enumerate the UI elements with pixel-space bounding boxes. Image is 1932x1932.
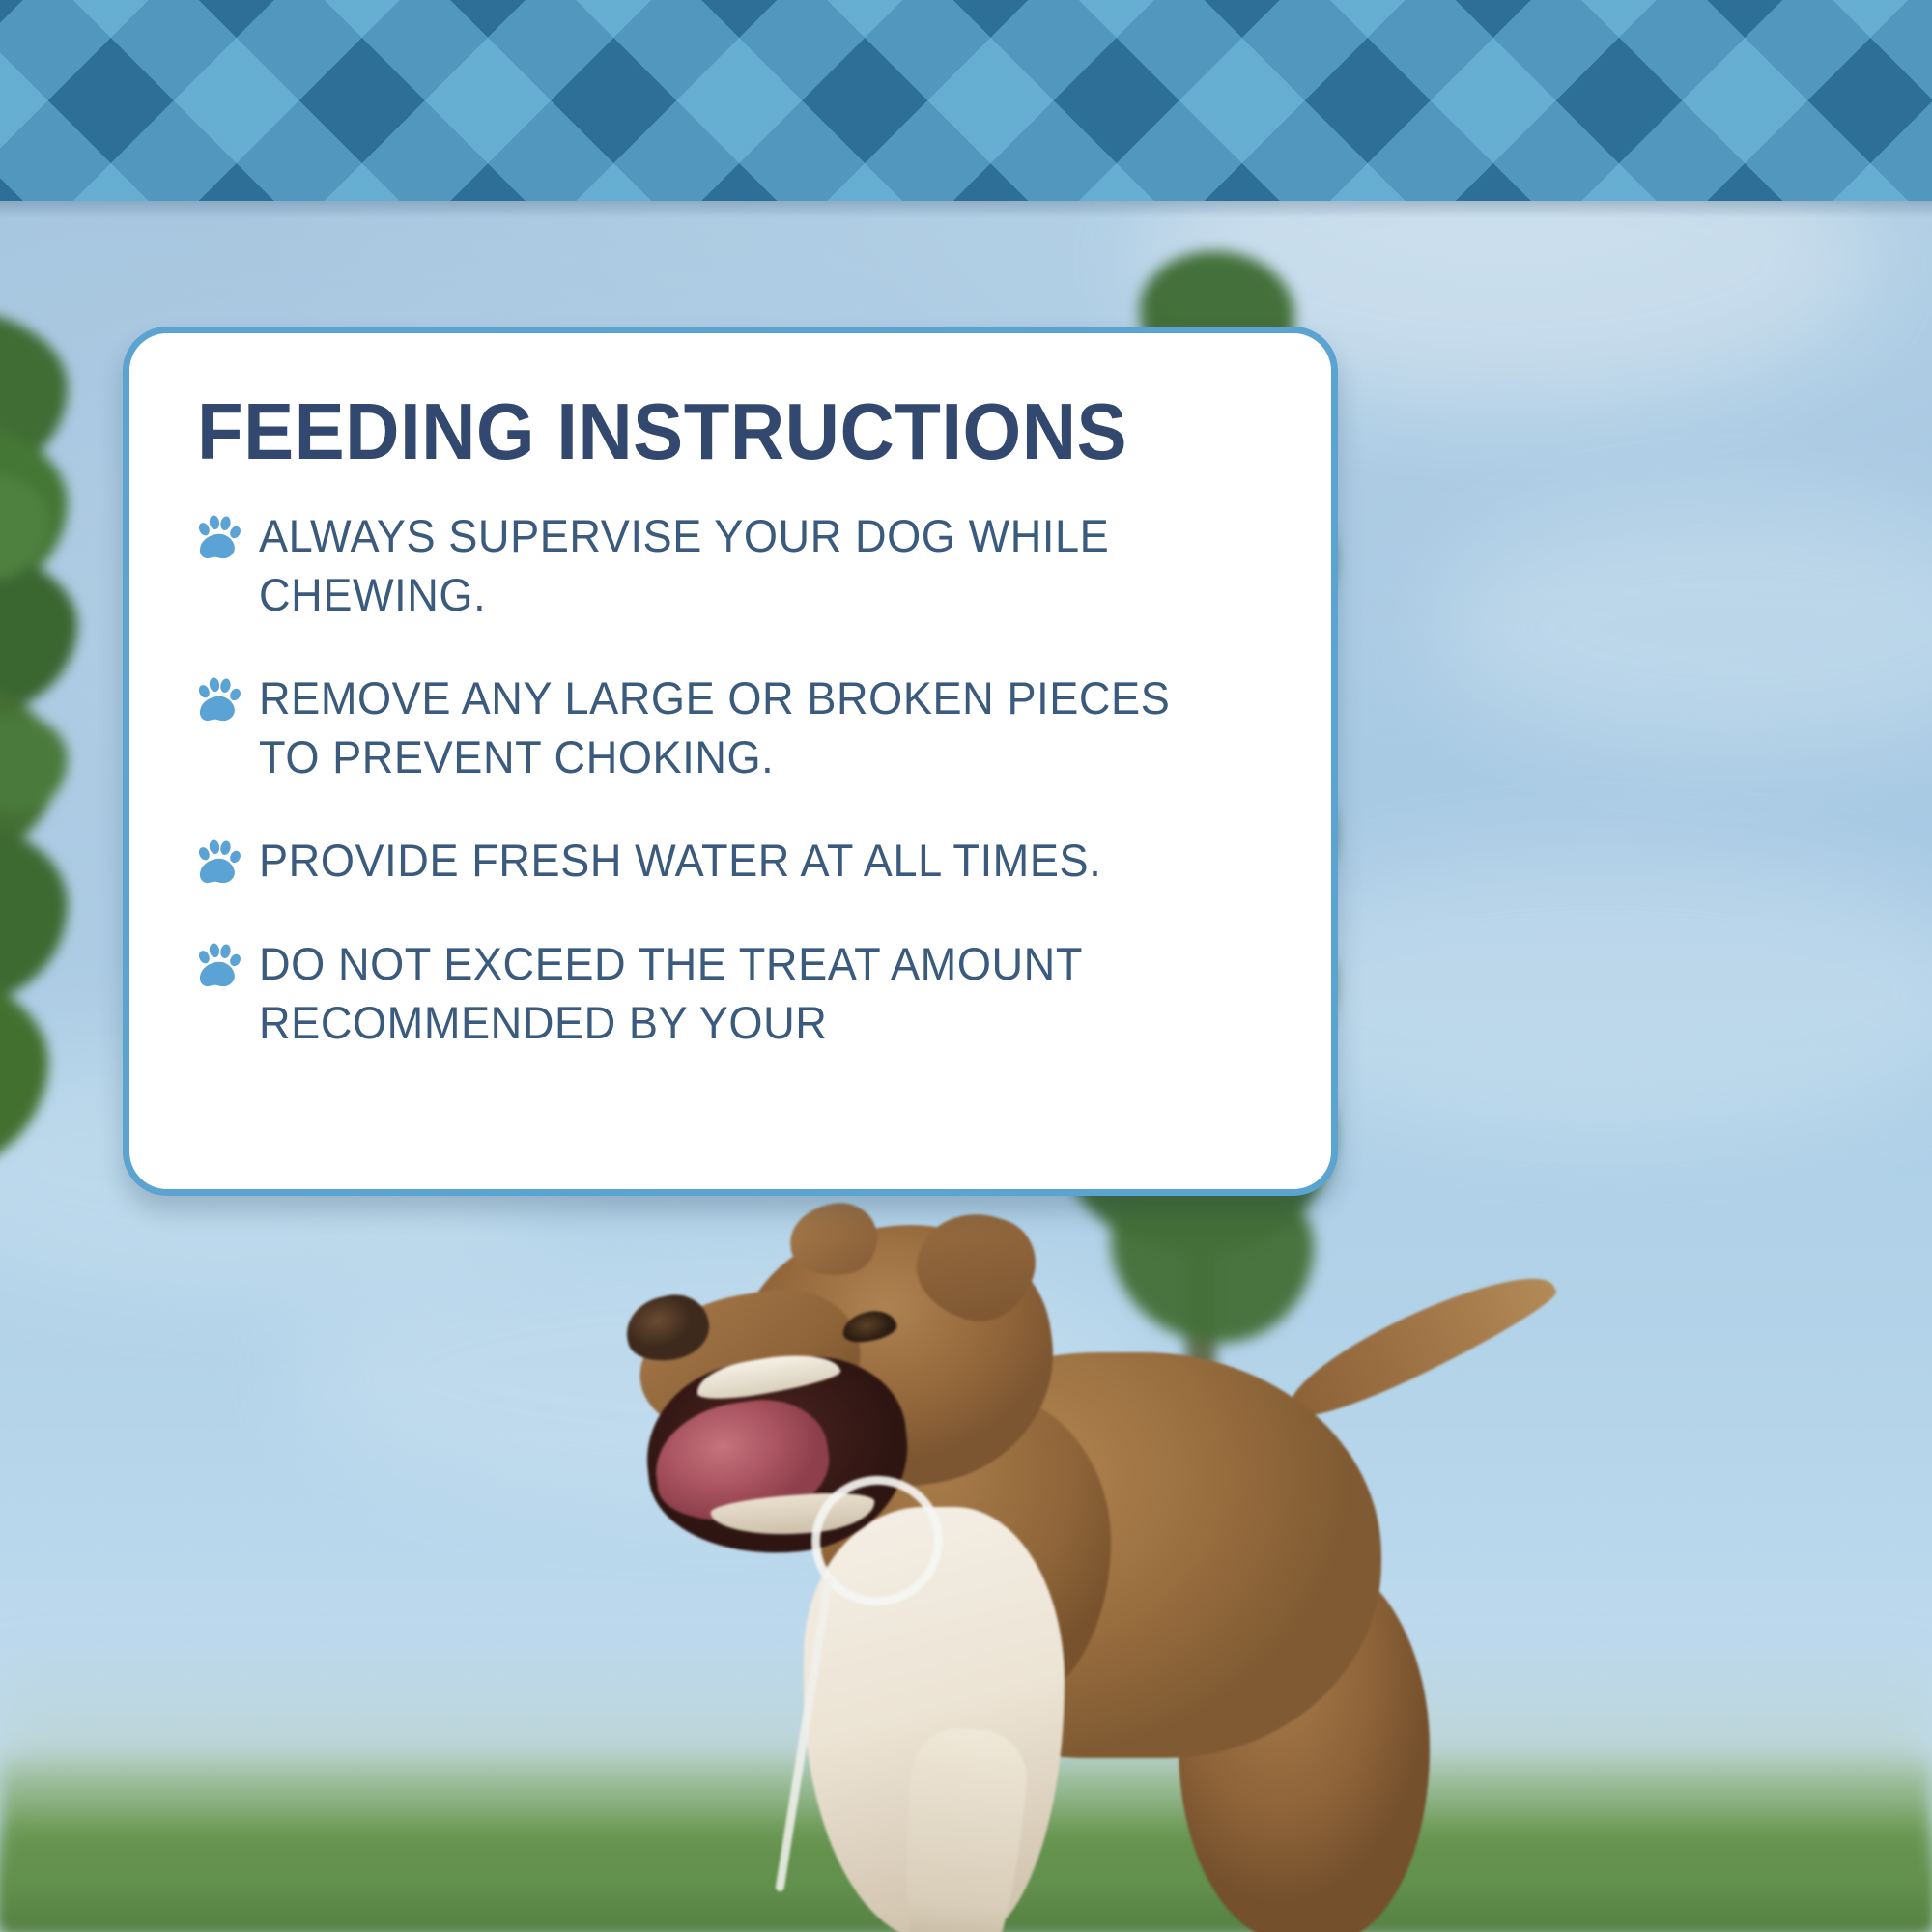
list-item: DO NOT EXCEED THE TREAT AMOUNT RECOMMEND… [197,934,1264,1052]
list-item-label: REMOVE ANY LARGE OR BROKEN PIECES TO PRE… [259,668,1214,786]
list-item-label: DO NOT EXCEED THE TREAT AMOUNT RECOMMEND… [259,934,1214,1052]
gingham-pattern [0,0,1932,201]
product-infographic-canvas: FEEDING INSTRUCTIONS [0,0,1932,1932]
list-item: REMOVE ANY LARGE OR BROKEN PIECES TO PRE… [197,668,1264,786]
page-title: FEEDING INSTRUCTIONS [197,391,1200,473]
list-item-label: ALWAYS SUPERVISE YOUR DOG WHILE CHEWING. [259,506,1214,624]
gingham-check-band [0,0,1932,201]
dog-tail [1277,1253,1563,1432]
gingham-horizontal-stripes [0,0,1932,201]
paw-print-icon [197,676,241,723]
list-item-label: PROVIDE FRESH WATER AT ALL TIMES. [259,831,1101,890]
paw-print-icon [197,514,241,560]
list-item: ALWAYS SUPERVISE YOUR DOG WHILE CHEWING. [197,506,1264,624]
dog-illustration [676,1188,1642,1932]
paw-print-icon [197,942,241,988]
feeding-instructions-card: FEEDING INSTRUCTIONS [123,327,1338,1196]
paw-print-icon [197,838,241,885]
instructions-list: ALWAYS SUPERVISE YOUR DOG WHILE CHEWING. [197,506,1264,1053]
list-item: PROVIDE FRESH WATER AT ALL TIMES. [197,831,1264,890]
